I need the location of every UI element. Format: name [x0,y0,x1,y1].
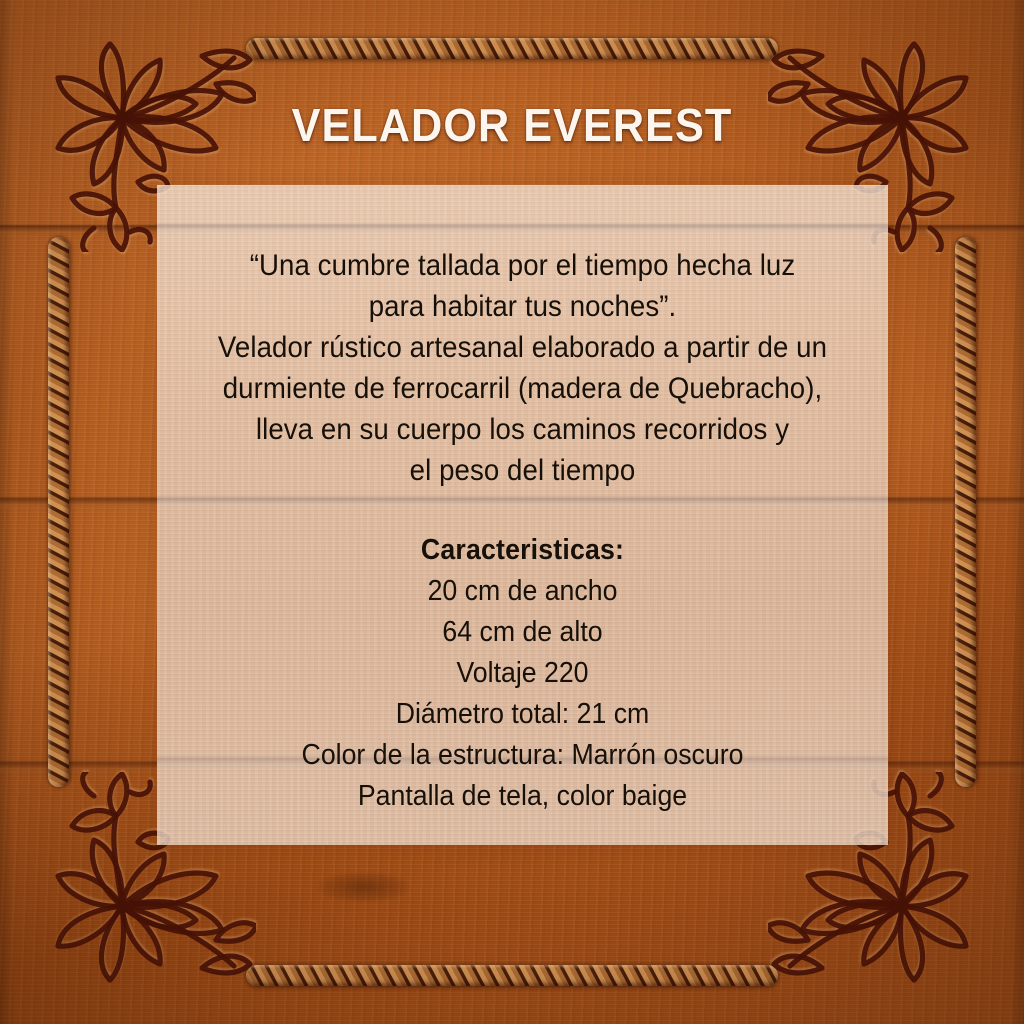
description-line: lleva en su cuerpo los caminos recorrido… [195,409,849,450]
spec-item: 20 cm de ancho [195,571,849,612]
rope-border-top [246,38,778,59]
description-line: el peso del tiempo [195,450,849,491]
content-panel: “Una cumbre tallada por el tiempo hecha … [157,185,888,845]
rope-border-bottom [246,965,778,986]
spec-item: Pantalla de tela, color baige [195,776,849,817]
specifications-heading: Caracteristicas: [195,530,849,571]
spec-item: 64 cm de alto [195,612,849,653]
product-description: “Una cumbre tallada por el tiempo hecha … [195,245,849,491]
description-line: durmiente de ferrocarril (madera de Queb… [195,368,849,409]
wood-knot [318,872,410,902]
description-line: “Una cumbre tallada por el tiempo hecha … [195,245,849,286]
description-line: Velador rústico artesanal elaborado a pa… [195,327,849,368]
spec-item: Color de la estructura: Marrón oscuro [195,735,849,776]
description-line: para habitar tus noches”. [195,286,849,327]
spec-item: Diámetro total: 21 cm [195,694,849,735]
product-card: VELADOR EVEREST “Una cumbre tallada por … [0,0,1024,1024]
rope-border-right [955,237,976,787]
spec-item: Voltaje 220 [195,653,849,694]
rope-border-left [48,237,69,787]
specifications-list: Caracteristicas: 20 cm de ancho 64 cm de… [195,530,849,817]
page-title: VELADOR EVEREST [31,98,994,152]
